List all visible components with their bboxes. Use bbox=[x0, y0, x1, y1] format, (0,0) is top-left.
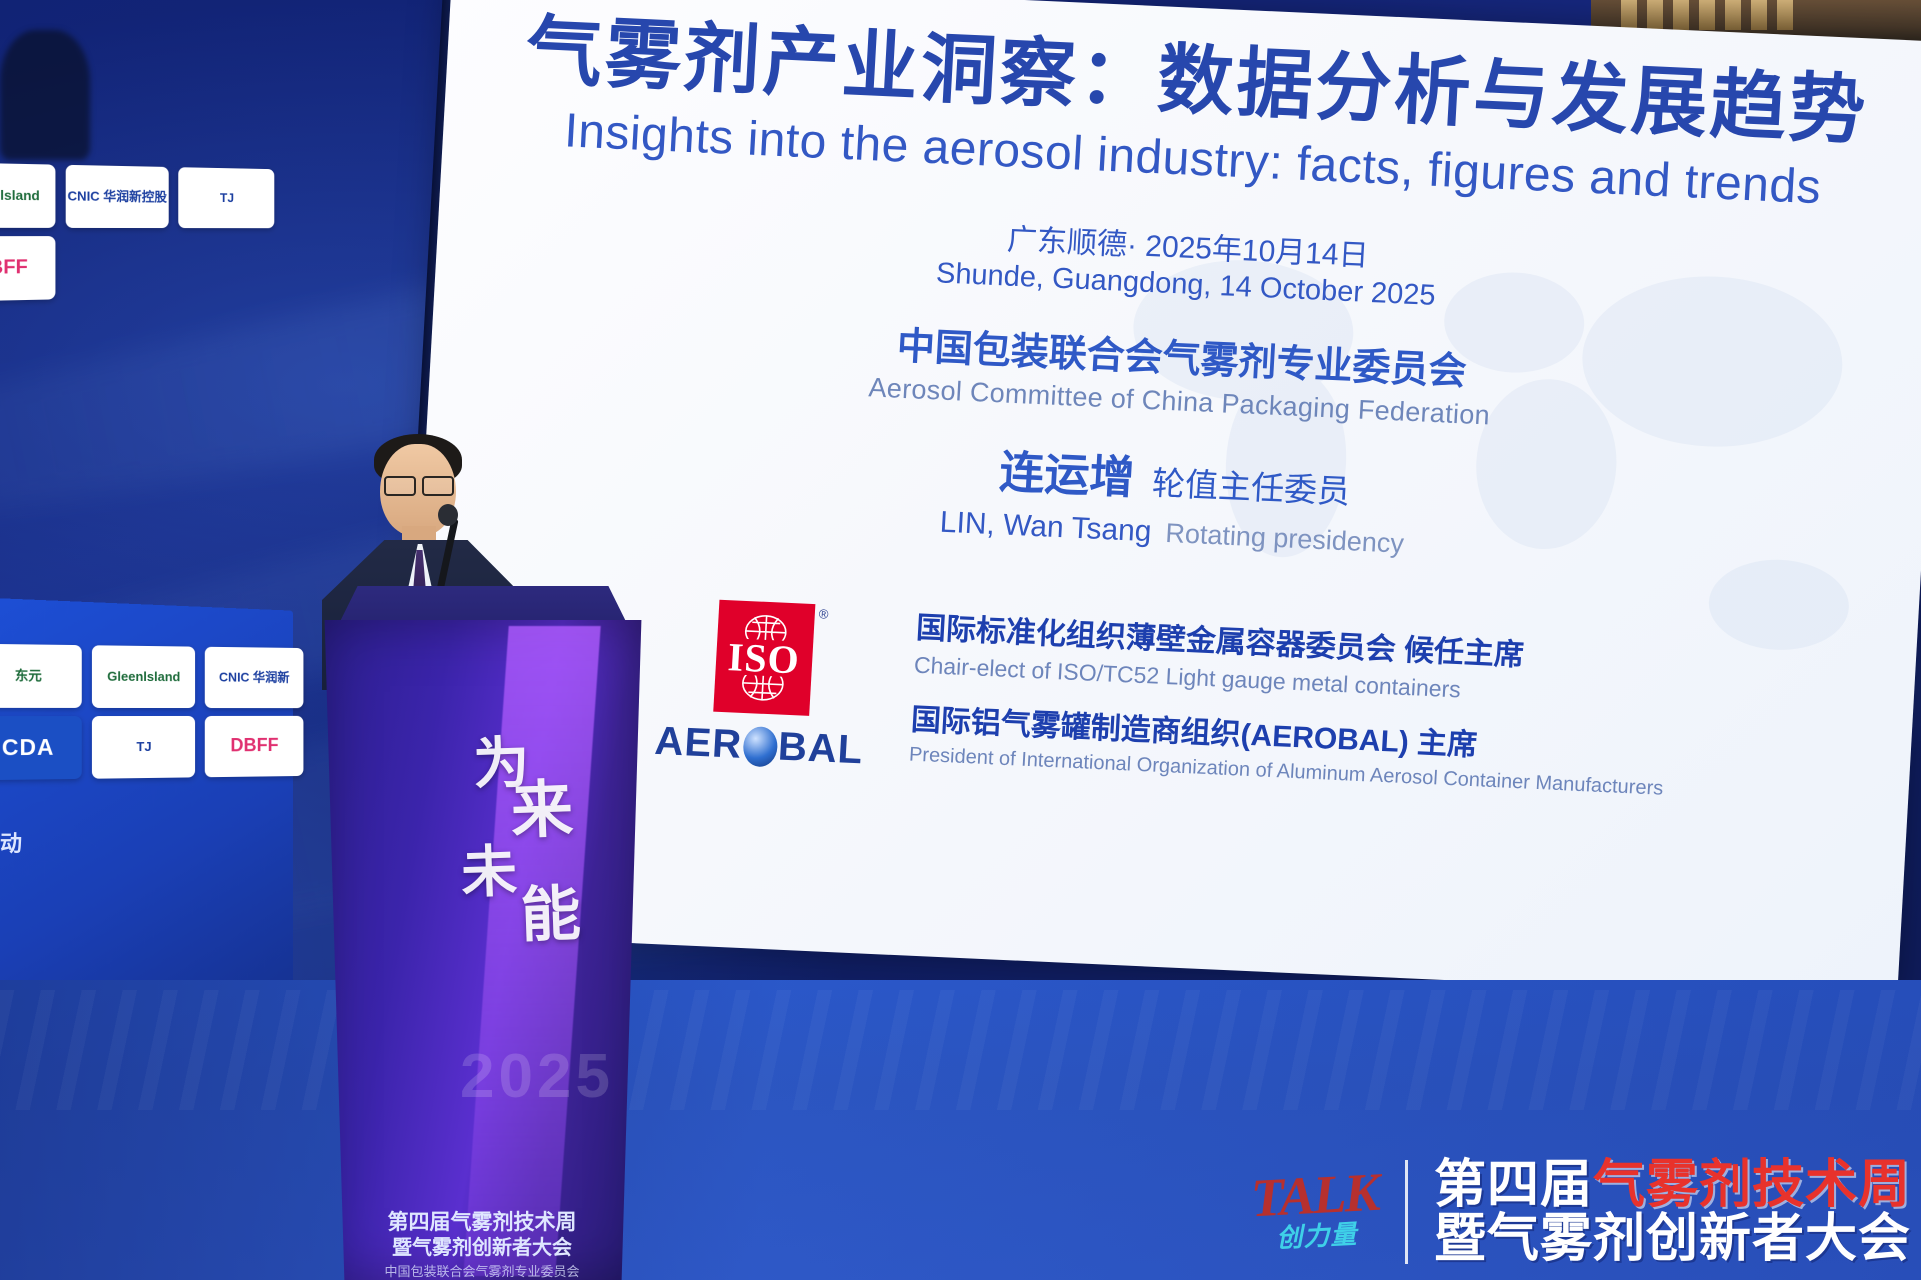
sponsor-logo: DBFF bbox=[0, 236, 55, 302]
aerobal-logo-icon: AER BAL bbox=[653, 719, 864, 773]
banner-line-2: 暨气雾剂创新者大会 bbox=[1434, 1212, 1911, 1266]
podium-calligraphy-char: 能 bbox=[520, 885, 580, 944]
sponsor-name: Gleenlsland bbox=[0, 188, 40, 204]
speaker-name-cn: 连运增 bbox=[998, 446, 1136, 503]
lamp-icon bbox=[1673, 0, 1689, 30]
sponsor-logo: DBFF bbox=[205, 716, 304, 777]
sponsor-logo-grid-top: Gleenlsland CNIC 华润新控股 TJ DBFF bbox=[0, 162, 281, 301]
glass-lens-left bbox=[384, 476, 416, 496]
microphone-icon bbox=[438, 504, 458, 526]
podium-plate-line-3: 中国包装联合会气雾剂专业委员会 bbox=[348, 1264, 616, 1280]
podium-plate-line-2: 暨气雾剂创新者大会 bbox=[348, 1236, 616, 1261]
lamp-icon bbox=[1725, 0, 1741, 30]
speaker-role-en: Rotating presidency bbox=[1165, 518, 1405, 559]
lamp-icon bbox=[1647, 0, 1663, 30]
podium-calligraphy: 为 来 未 能 bbox=[462, 734, 579, 946]
sponsor-name: 东元 bbox=[15, 669, 42, 684]
banner-text: 第四届气雾剂技术周 暨气雾剂创新者大会 bbox=[1434, 1158, 1911, 1266]
event-banner: TALK 创力量 第四届气雾剂技术周 暨气雾剂创新者大会 bbox=[1252, 1158, 1911, 1266]
podium: 为 来 未 能 2025 第四届气雾剂技术周 暨气雾剂创新者大会 中国包装联合会… bbox=[318, 586, 648, 1280]
floor-ripple bbox=[0, 990, 1921, 1110]
sponsor-logo: TJ bbox=[92, 716, 195, 779]
sponsor-name: TJ bbox=[136, 740, 151, 754]
glasses-icon bbox=[384, 476, 454, 492]
iso-wordmark: ISO bbox=[727, 633, 801, 683]
banner-line2-white: 暨气雾剂创新者大会 bbox=[1434, 1210, 1911, 1268]
sponsor-name: TJ bbox=[220, 191, 234, 205]
sponsor-logo: Gleenlsland bbox=[92, 645, 195, 708]
sponsor-logo: 东元 bbox=[0, 644, 82, 708]
glass-lens-right bbox=[422, 476, 454, 496]
lamp-icon bbox=[1699, 0, 1715, 30]
sponsor-name: Gleenlsland bbox=[107, 669, 180, 684]
lamp-icon bbox=[1777, 0, 1793, 30]
speaker-role-cn: 轮值主任委员 bbox=[1151, 464, 1351, 510]
sponsor-logo-grid-bottom: 东元 Gleenlsland CNIC 华润新 CDA TJ DBFF bbox=[0, 644, 311, 781]
credential-text-block: 国际标准化组织薄壁金属容器委员会 候任主席 Chair-elect of ISO… bbox=[907, 603, 1671, 817]
person-silhouette bbox=[0, 30, 90, 160]
credential-logos: ISO ® AER BAL bbox=[653, 597, 871, 773]
sponsor-logo: CNIC 华润新控股 bbox=[66, 165, 169, 228]
speaker-name-en: LIN, Wan Tsang bbox=[939, 505, 1152, 548]
talk-logo: TALK 创力量 bbox=[1250, 1168, 1381, 1256]
aerobal-wordmark-left: AER bbox=[653, 719, 743, 768]
podium-calligraphy-char: 来 bbox=[510, 781, 576, 842]
sponsor-name: DBFF bbox=[230, 736, 278, 757]
credentials-block: ISO ® AER BAL bbox=[478, 583, 1847, 824]
sponsor-name: DBFF bbox=[0, 257, 28, 279]
iso-logo-icon: ISO ® bbox=[713, 600, 815, 716]
banner-divider bbox=[1405, 1160, 1408, 1264]
podium-nameplate: 第四届气雾剂技术周 暨气雾剂创新者大会 中国包装联合会气雾剂专业委员会 bbox=[348, 1210, 616, 1280]
left-wall-caption: 动 bbox=[0, 826, 22, 858]
sponsor-name: CDA bbox=[2, 735, 55, 760]
banner-line-1: 第四届气雾剂技术周 bbox=[1434, 1158, 1911, 1212]
sponsor-logo: CNIC 华润新 bbox=[205, 647, 304, 708]
podium-year: 2025 bbox=[460, 1041, 614, 1112]
talk-subtitle: 创力量 bbox=[1275, 1214, 1358, 1255]
aerobal-wordmark-right: BAL bbox=[777, 725, 865, 774]
podium-plate-line-1: 第四届气雾剂技术周 bbox=[348, 1210, 616, 1236]
sponsor-name: CNIC 华润新 bbox=[219, 670, 290, 684]
sponsor-logo: TJ bbox=[178, 167, 274, 228]
sponsor-name: CNIC 华润新控股 bbox=[68, 189, 167, 204]
lamp-icon bbox=[1751, 0, 1767, 30]
lamp-icon bbox=[1621, 0, 1637, 30]
sponsor-logo: CDA bbox=[0, 716, 82, 780]
registered-mark-icon: ® bbox=[818, 607, 828, 622]
conference-photo: Gleenlsland CNIC 华润新控股 TJ DBFF 东元 Gleenl… bbox=[0, 0, 1921, 1280]
banner-line1-white: 第四届 bbox=[1434, 1156, 1593, 1214]
banner-line1-red: 气雾剂技术周 bbox=[1593, 1156, 1911, 1214]
sponsor-logo: Gleenlsland bbox=[0, 162, 55, 228]
globe-icon bbox=[742, 726, 778, 767]
